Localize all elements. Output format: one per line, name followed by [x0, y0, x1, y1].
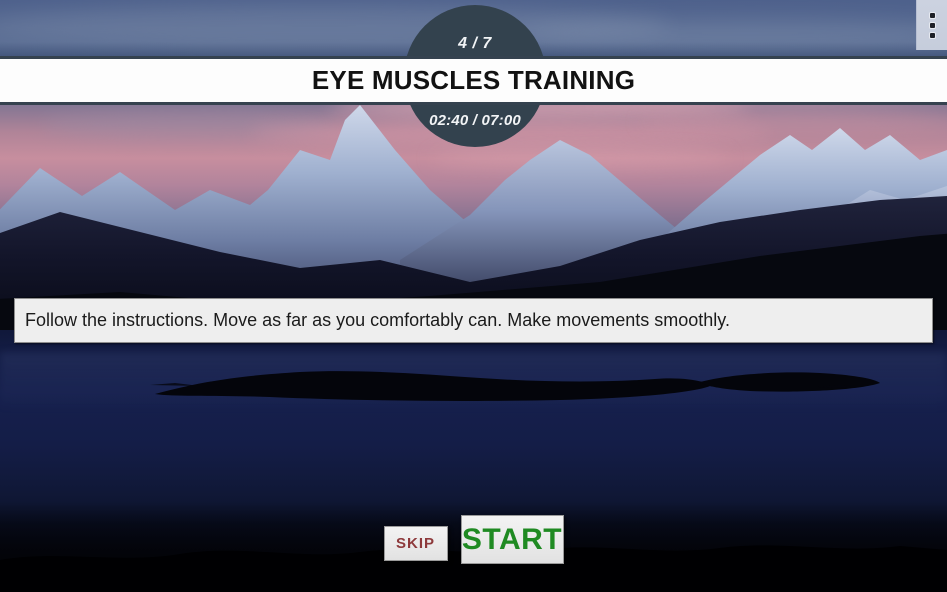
island-silhouette — [0, 352, 947, 414]
more-vertical-icon[interactable] — [916, 0, 947, 50]
session-timer: 02:40 / 07:00 — [404, 112, 546, 129]
instruction-panel: Follow the instructions. Move as far as … — [14, 298, 933, 343]
haze — [520, 18, 947, 48]
title-bar: EYE MUSCLES TRAINING — [0, 56, 947, 105]
menu-dot — [930, 13, 935, 18]
menu-dot — [930, 23, 935, 28]
instruction-text: Follow the instructions. Move as far as … — [25, 310, 730, 331]
page-title: EYE MUSCLES TRAINING — [312, 65, 635, 96]
training-screen: 4 / 7 02:40 / 07:00 EYE MUSCLES TRAINING… — [0, 0, 947, 592]
skip-button[interactable]: SKIP — [384, 526, 448, 561]
action-bar: SKIP START — [0, 515, 947, 564]
step-counter: 4 / 7 — [404, 35, 546, 53]
start-button[interactable]: START — [461, 515, 564, 564]
menu-dot — [930, 33, 935, 38]
